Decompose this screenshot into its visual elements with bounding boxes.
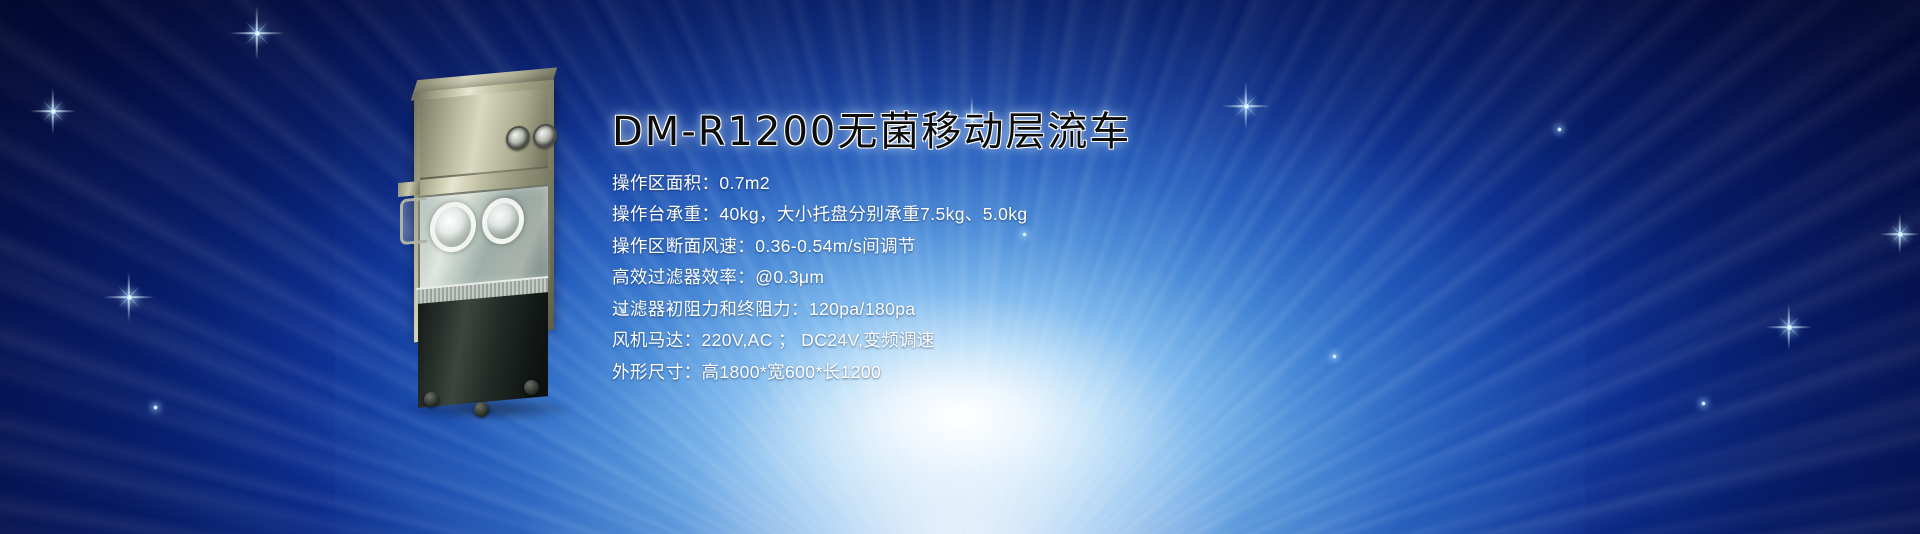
door-handle: [400, 197, 427, 245]
spec-item-area: 操作区面积：0.7m2: [612, 175, 1612, 193]
spec-item-hepa-efficiency: 高效过滤器效率：@0.3μm: [612, 269, 1612, 287]
spec-item-fan-motor: 风机马达：220V,AC ； DC24V,变频调速: [612, 332, 1612, 350]
spec-item-air-velocity: 操作区断面风速：0.36-0.54m/s间调节: [612, 238, 1612, 256]
spec-list: 操作区面积：0.7m2 操作台承重：40kg，大小托盘分别承重7.5kg、5.0…: [612, 175, 1612, 382]
spec-item-dimensions: 外形尺寸：高1800*宽600*长1200: [612, 364, 1612, 382]
product-banner: DM-R1200无菌移动层流车 操作区面积：0.7m2 操作台承重：40kg，大…: [0, 0, 1920, 534]
product-image: [398, 86, 578, 406]
product-title: DM-R1200无菌移动层流车: [612, 110, 1612, 155]
spec-item-load-capacity: 操作台承重：40kg，大小托盘分别承重7.5kg、5.0kg: [612, 206, 1612, 224]
side-tray: [398, 181, 420, 197]
caster-wheel-icon: [474, 402, 489, 417]
spec-item-filter-pressure: 过滤器初阻力和终阻力：120pa/180pa: [612, 301, 1612, 319]
caster-wheel-icon: [424, 392, 439, 407]
caster-wheel-icon: [524, 380, 539, 395]
text-block: DM-R1200无菌移动层流车 操作区面积：0.7m2 操作台承重：40kg，大…: [612, 110, 1612, 395]
